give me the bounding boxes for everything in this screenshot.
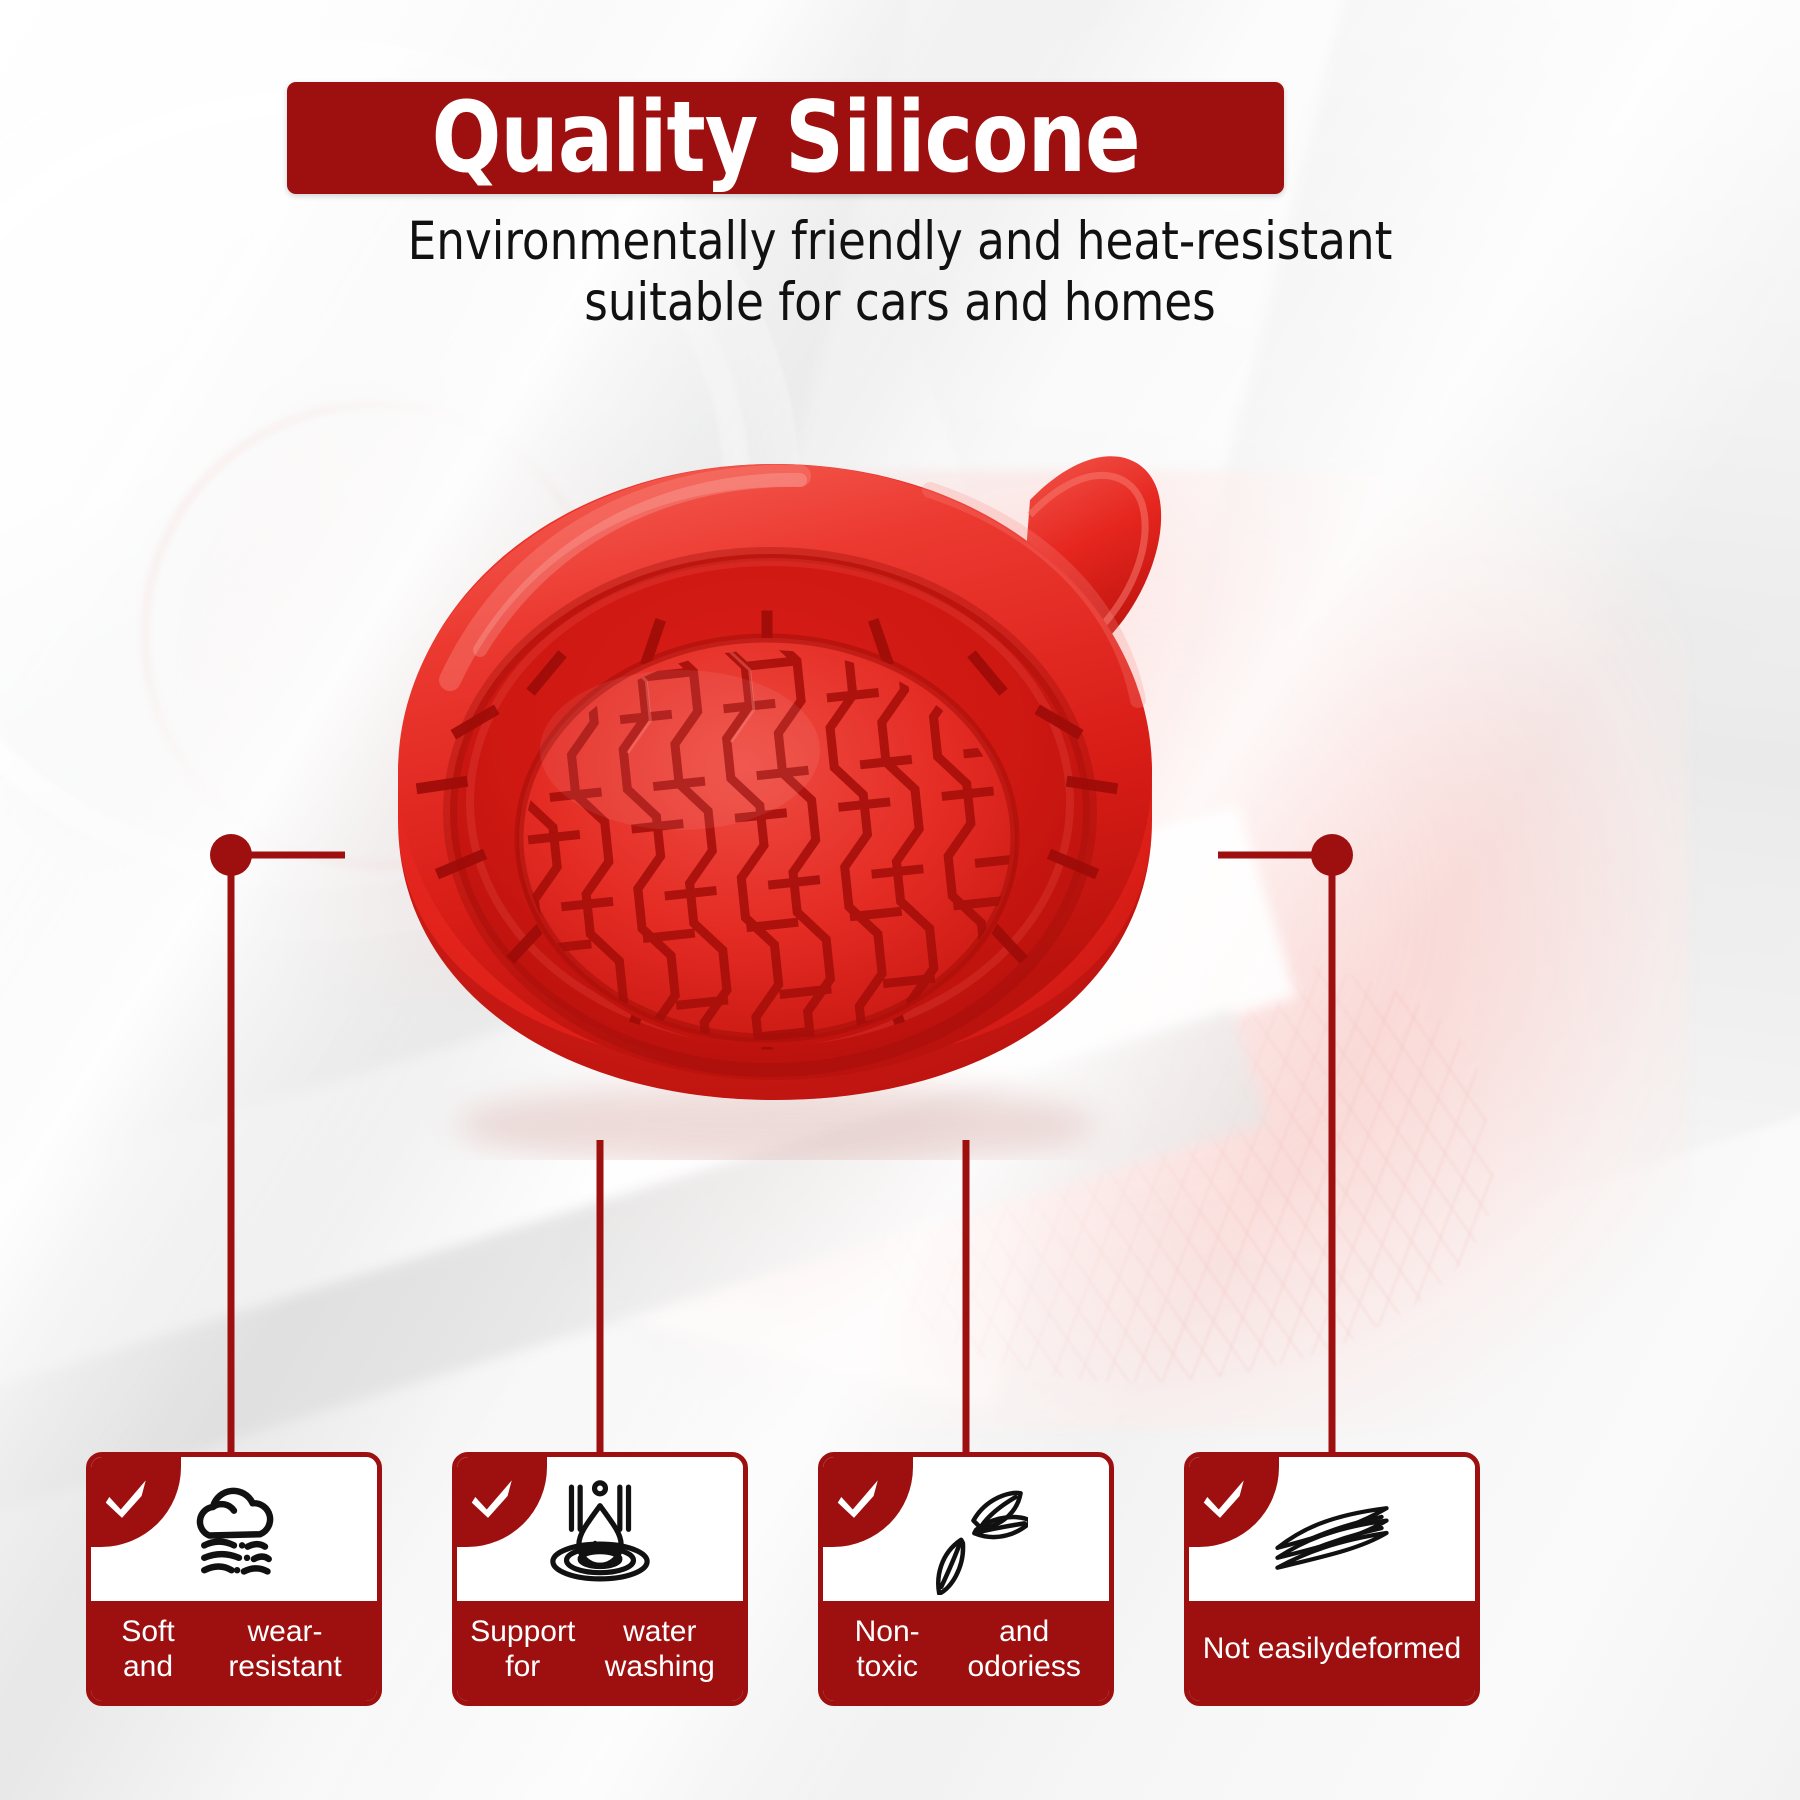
feature-label-line-1: Not easily bbox=[1203, 1631, 1335, 1666]
subtitle-line-2: suitable for cars and homes bbox=[45, 273, 1755, 334]
product-image bbox=[330, 420, 1200, 1160]
water-droplet-ripple-icon bbox=[538, 1471, 662, 1595]
page-title: Quality Silicone bbox=[431, 89, 1139, 187]
feature-label-line-2: and odoriess bbox=[945, 1614, 1103, 1685]
feature-card-washable[interactable]: Support for water washing bbox=[452, 1452, 748, 1706]
silicone-liner-illustration bbox=[330, 420, 1200, 1160]
feature-label: Support for water washing bbox=[457, 1601, 743, 1701]
cloud-soft-icon bbox=[172, 1471, 296, 1595]
feature-label: Non-toxic and odoriess bbox=[823, 1601, 1109, 1701]
subtitle: Environmentally friendly and heat-resist… bbox=[45, 212, 1755, 334]
feature-label-line-2: wear-resistant bbox=[199, 1614, 371, 1685]
feature-label-line-1: Support for bbox=[463, 1614, 583, 1685]
feature-card-nontoxic[interactable]: Non-toxic and odoriess bbox=[818, 1452, 1114, 1706]
feature-label-line-1: Non-toxic bbox=[829, 1614, 945, 1685]
title-banner: Quality Silicone bbox=[287, 82, 1284, 194]
feature-label: Not easily deformed bbox=[1189, 1601, 1475, 1701]
feature-label-line-2: deformed bbox=[1334, 1631, 1461, 1666]
check-icon bbox=[468, 1471, 518, 1521]
check-icon bbox=[834, 1471, 884, 1521]
feature-label-line-1: Soft and bbox=[97, 1614, 199, 1685]
feature-label: Soft and wear-resistant bbox=[91, 1601, 377, 1701]
infographic-canvas: Quality Silicone Environmentally friendl… bbox=[0, 0, 1800, 1800]
check-icon bbox=[102, 1471, 152, 1521]
flexible-sheets-icon bbox=[1270, 1471, 1394, 1595]
subtitle-line-1: Environmentally friendly and heat-resist… bbox=[45, 212, 1755, 273]
recycling-leaves-icon bbox=[904, 1471, 1028, 1595]
check-icon bbox=[1200, 1471, 1250, 1521]
feature-label-line-2: water washing bbox=[583, 1614, 737, 1685]
feature-card-not-deformed[interactable]: Not easily deformed bbox=[1184, 1452, 1480, 1706]
feature-card-soft[interactable]: Soft and wear-resistant bbox=[86, 1452, 382, 1706]
feature-card-row: Soft and wear-resistant bbox=[0, 1452, 1800, 1710]
